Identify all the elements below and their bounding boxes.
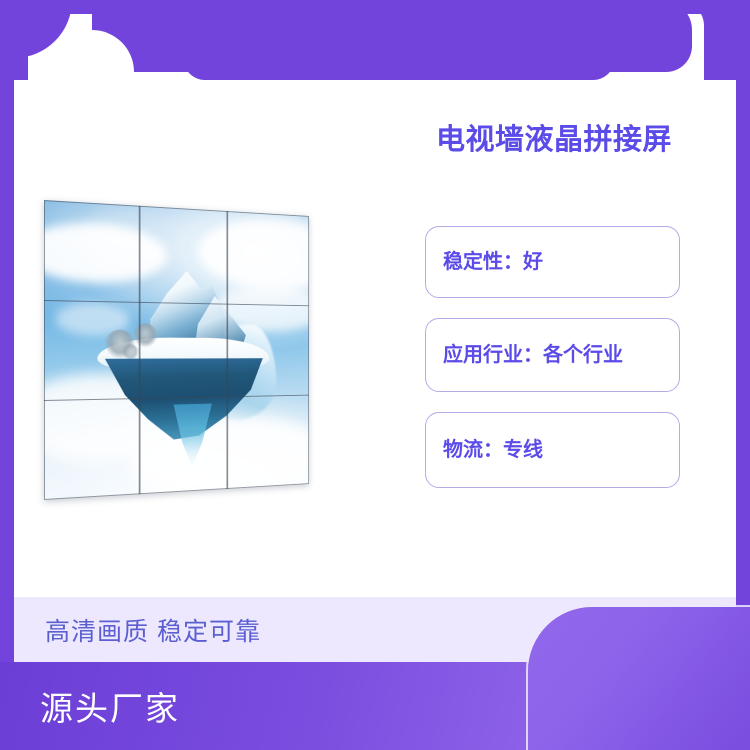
lcd-video-wall-photo <box>44 200 309 500</box>
product-image-stage <box>28 186 368 516</box>
panel-seam-vertical <box>227 211 228 489</box>
tree-shape <box>122 344 139 360</box>
footer-text: 源头厂家 <box>40 682 180 730</box>
floating-iceberg-island <box>93 268 272 450</box>
tagline-text: 高清画质 稳定可靠 <box>45 612 261 648</box>
tree-shape <box>133 323 157 348</box>
spec-item-label: 物流：专线 <box>443 438 543 462</box>
spec-item-industry: 应用行业：各个行业 <box>425 318 680 392</box>
corner-blob-decoration <box>528 607 750 750</box>
page-title: 电视墙液晶拼接屏 <box>436 122 686 159</box>
spec-item-stability: 稳定性：好 <box>425 226 680 298</box>
spec-item-label: 稳定性：好 <box>443 250 543 274</box>
panel-seam-vertical <box>139 206 140 495</box>
spec-item-logistics: 物流：专线 <box>425 412 680 488</box>
promo-poster: 电视墙液晶拼接屏 稳定性：好 应用行业：各个行业 物流：专线 高清画质 稳定可靠… <box>0 0 750 750</box>
spec-item-label: 应用行业：各个行业 <box>443 343 623 367</box>
